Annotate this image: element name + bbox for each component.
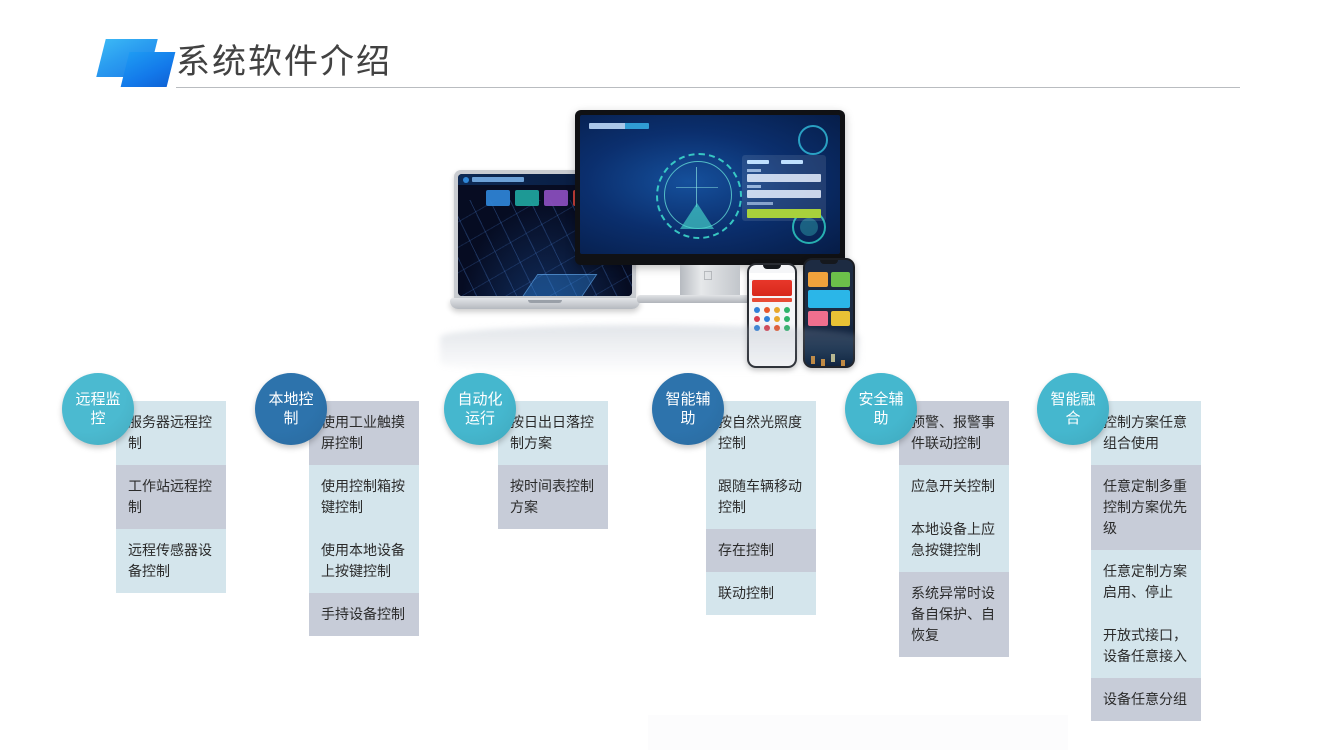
column-circle-remote-monitoring[interactable]: 远程监控 bbox=[62, 373, 134, 445]
feature-item[interactable]: 联动控制 bbox=[706, 572, 816, 615]
imac-password-label bbox=[747, 185, 761, 188]
imac-username-field bbox=[747, 174, 821, 182]
feature-item[interactable]: 使用控制箱按键控制 bbox=[309, 465, 419, 529]
phone-dark-tile-2 bbox=[831, 272, 851, 287]
phone-light-icon-1 bbox=[754, 307, 760, 313]
feature-item[interactable]: 任意定制多重控制方案优先级 bbox=[1091, 465, 1201, 550]
column-circle-intelligent-fusion[interactable]: 智能融合 bbox=[1037, 373, 1109, 445]
column-circle-local-control[interactable]: 本地控制 bbox=[255, 373, 327, 445]
imac-password-field bbox=[747, 190, 821, 198]
feature-item[interactable]: 手持设备控制 bbox=[309, 593, 419, 636]
feature-item[interactable]: 工作站远程控制 bbox=[116, 465, 226, 529]
laptop-card-1 bbox=[486, 190, 510, 206]
feature-item[interactable]: 远程传感器设备控制 bbox=[116, 529, 226, 593]
column-panel-automatic-operation: 按日出日落控制方案按时间表控制方案 bbox=[498, 401, 608, 529]
imac-username-label bbox=[747, 169, 761, 172]
feature-item[interactable]: 设备任意分组 bbox=[1091, 678, 1201, 721]
logo-shape-front bbox=[121, 52, 176, 87]
phone-light-icon-7 bbox=[774, 316, 780, 322]
imac-login-tabs bbox=[747, 160, 821, 164]
phone-light-icon-2 bbox=[764, 307, 770, 313]
column-panel-safety-assist: 预警、报警事件联动控制应急开关控制本地设备上应急按键控制系统异常时设备自保护、自… bbox=[899, 401, 1009, 657]
imac-login-tab-1 bbox=[747, 160, 769, 164]
imac-app-brand bbox=[589, 123, 649, 129]
feature-item[interactable]: 使用本地设备上按键控制 bbox=[309, 529, 419, 593]
imac-screen bbox=[580, 115, 840, 254]
phone-dark-tile-wide bbox=[808, 290, 850, 308]
imac-radar-spoke-h bbox=[676, 187, 718, 188]
laptop-card-3 bbox=[544, 190, 568, 206]
phone-dark-notch bbox=[820, 260, 838, 264]
phone-dark-tile-4 bbox=[808, 311, 828, 326]
phone-dark-tile-grid bbox=[808, 272, 850, 326]
feature-item[interactable]: 开放式接口，设备任意接入 bbox=[1091, 614, 1201, 678]
laptop-notch bbox=[528, 300, 562, 303]
feature-columns: 远程监控服务器远程控制工作站远程控制远程传感器设备控制本地控制使用工业触摸屏控制… bbox=[0, 373, 1333, 750]
title-divider bbox=[176, 87, 1240, 88]
feature-item[interactable]: 任意定制方案启用、停止 bbox=[1091, 550, 1201, 614]
feature-item[interactable]: 按时间表控制方案 bbox=[498, 465, 608, 529]
column-panel-intelligent-fusion: 控制方案任意组合使用任意定制多重控制方案优先级任意定制方案启用、停止开放式接口，… bbox=[1091, 401, 1201, 721]
feature-item[interactable]: 跟随车辆移动控制 bbox=[706, 465, 816, 529]
brand-logo-icon bbox=[101, 39, 173, 87]
laptop-app-title-bar bbox=[472, 177, 524, 182]
apple-logo-icon:  bbox=[703, 270, 713, 282]
bottom-background-wash bbox=[648, 715, 1068, 750]
feature-item[interactable]: 应急开关控制 bbox=[899, 465, 1009, 508]
laptop-card-2 bbox=[515, 190, 539, 206]
column-panel-local-control: 使用工业触摸屏控制使用控制箱按键控制使用本地设备上按键控制手持设备控制 bbox=[309, 401, 419, 636]
imac-login-button bbox=[747, 209, 821, 218]
phone-light-icon-8 bbox=[784, 316, 790, 322]
feature-item[interactable]: 存在控制 bbox=[706, 529, 816, 572]
slide-header: 系统软件介绍 bbox=[0, 0, 1333, 100]
imac-orb-decor-icon bbox=[798, 125, 828, 155]
phone-light-icon-4 bbox=[784, 307, 790, 313]
column-panel-intelligent-assist: 按自然光照度控制跟随车辆移动控制存在控制联动控制 bbox=[706, 401, 816, 615]
laptop-app-logo-icon bbox=[463, 177, 469, 183]
feature-item[interactable]: 本地设备上应急按键控制 bbox=[899, 508, 1009, 572]
imac-remember-checkbox bbox=[747, 202, 773, 205]
column-circle-automatic-operation[interactable]: 自动化运行 bbox=[444, 373, 516, 445]
imac-radar-cone bbox=[680, 203, 714, 229]
phone-light-subbar bbox=[752, 298, 792, 302]
imac-login-panel bbox=[742, 155, 826, 221]
phone-light-banner bbox=[752, 280, 792, 296]
column-circle-safety-assist[interactable]: 安全辅助 bbox=[845, 373, 917, 445]
imac-bezel bbox=[575, 110, 845, 265]
feature-item[interactable]: 系统异常时设备自保护、自恢复 bbox=[899, 572, 1009, 657]
phone-dark-tile-5 bbox=[831, 311, 851, 326]
device-reflection bbox=[440, 325, 860, 375]
column-circle-intelligent-assist[interactable]: 智能辅助 bbox=[652, 373, 724, 445]
column-panel-remote-monitoring: 服务器远程控制工作站远程控制远程传感器设备控制 bbox=[116, 401, 226, 593]
phone-light-statusbar bbox=[749, 273, 795, 279]
phone-light-icon-3 bbox=[774, 307, 780, 313]
phone-light-icon-5 bbox=[754, 316, 760, 322]
phone-light-notch bbox=[763, 265, 781, 269]
imac-login-tab-2 bbox=[781, 160, 803, 164]
phone-light-icon-6 bbox=[764, 316, 770, 322]
page-title: 系统软件介绍 bbox=[176, 38, 392, 86]
phone-dark-tile-1 bbox=[808, 272, 828, 287]
